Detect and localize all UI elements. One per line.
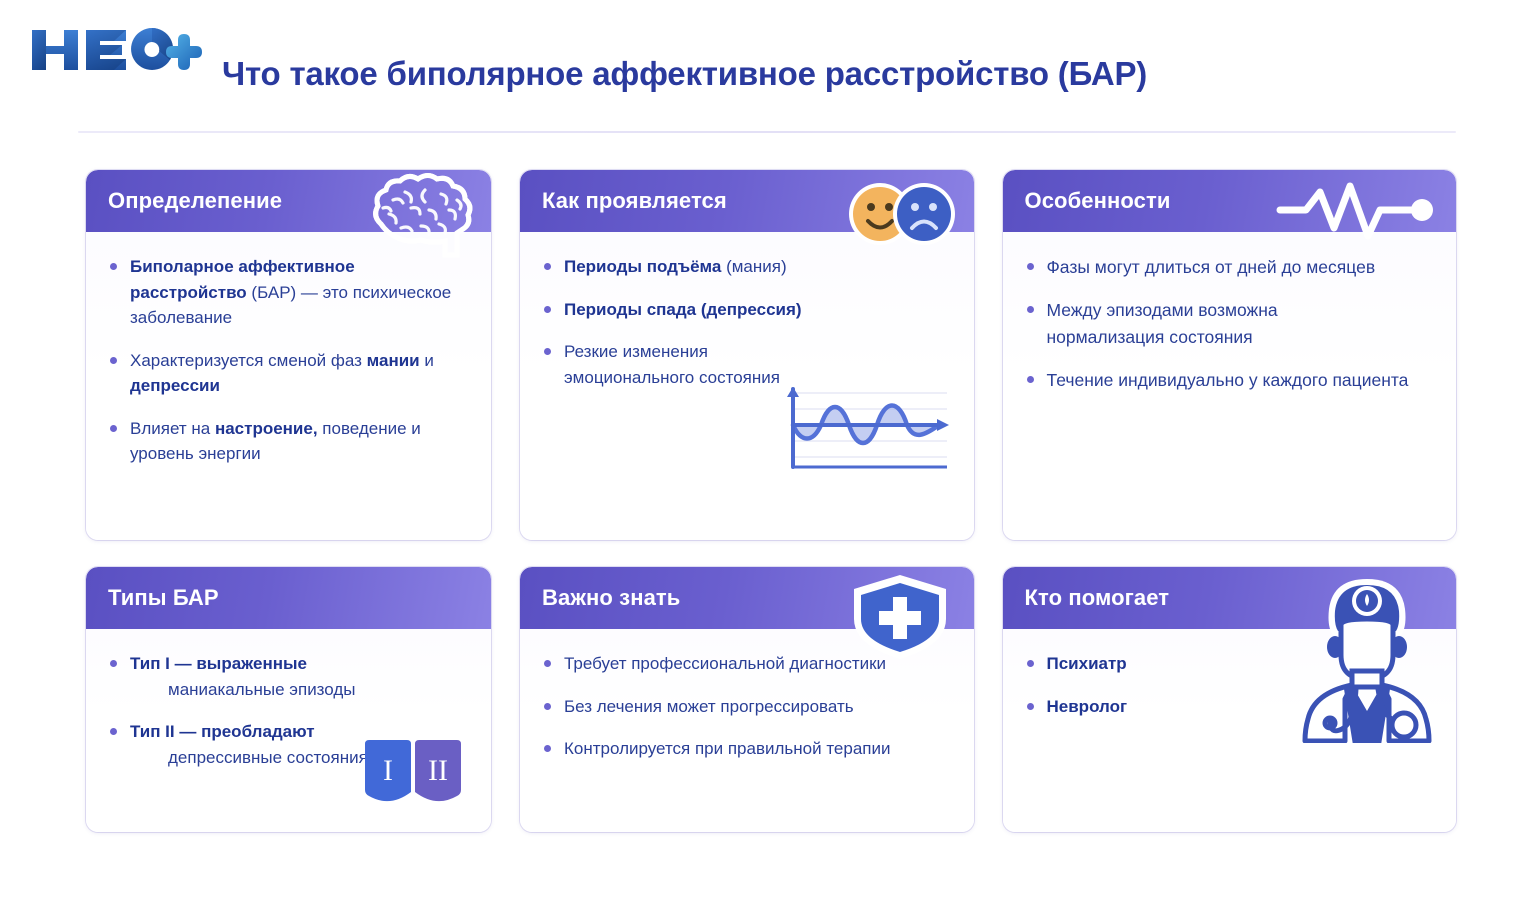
bullet-bold-text: Периоды подъёма bbox=[564, 257, 721, 276]
bullet-regular-text: Резкие изменения эмоционального состояни… bbox=[564, 342, 780, 387]
bullet-sub-text: депрессивные состояния bbox=[130, 745, 469, 771]
card-title: Важно знать bbox=[520, 585, 680, 611]
list-item: Влияет на настроение, поведение и уровен… bbox=[108, 416, 469, 467]
card-header-definition: Определепение bbox=[86, 170, 491, 232]
list-item: Без лечения может прогрессировать bbox=[542, 694, 952, 720]
card-body: Требует профессиональной диагностики Без… bbox=[520, 629, 974, 789]
list-item: Между эпизодами возможна нормализация со… bbox=[1025, 297, 1325, 350]
card-header-types: Типы БАР bbox=[86, 567, 491, 629]
card-header-manifestation: Как проявляется bbox=[520, 170, 974, 232]
card-body: Периоды подъёма (мания) Периоды спада (д… bbox=[520, 232, 974, 417]
list-item: Психиатр bbox=[1025, 651, 1435, 677]
list-item: Тип II — преобладают депрессивные состоя… bbox=[108, 719, 469, 770]
bullet-list: Психиатр Невролог bbox=[1025, 651, 1435, 719]
card-manifestation: Как проявляется Периоды подъёма (мания) … bbox=[520, 170, 974, 540]
neo-plus-logo bbox=[26, 20, 206, 80]
page-title: Что такое биполярное аффективное расстро… bbox=[222, 55, 1147, 93]
card-header-features: Особенности bbox=[1003, 170, 1457, 232]
header-divider bbox=[78, 131, 1456, 133]
card-header-important: Важно знать bbox=[520, 567, 974, 629]
card-important: Важно знать Требует профессиональной диа… bbox=[520, 567, 974, 832]
card-body: Тип I — выраженные маниакальные эпизоды … bbox=[86, 629, 491, 797]
card-who-helps: Кто помогает Психиатр Невролог bbox=[1003, 567, 1457, 832]
bullet-regular-text: Без лечения может прогрессировать bbox=[564, 697, 854, 716]
list-item: Биполарное аффективное расстройство (БАР… bbox=[108, 254, 469, 331]
bullet-bold-text: Тип II — преобладают bbox=[130, 722, 315, 741]
bullet-sub-text: маниакальные эпизоды bbox=[130, 677, 469, 703]
card-title: Типы БАР bbox=[86, 585, 219, 611]
page-header: Что такое биполярное аффективное расстро… bbox=[0, 0, 1536, 132]
list-item: Невролог bbox=[1025, 694, 1435, 720]
bullet-bold-text: настроение, bbox=[215, 419, 318, 438]
list-item: Резкие изменения эмоционального состояни… bbox=[542, 339, 792, 390]
list-item: Тип I — выраженные маниакальные эпизоды bbox=[108, 651, 469, 702]
card-body: Фазы могут длиться от дней до месяцев Ме… bbox=[1003, 232, 1457, 420]
infographic-page: Что такое биполярное аффективное расстро… bbox=[0, 0, 1536, 922]
bullet-regular-text: Характеризуется сменой фаз bbox=[130, 351, 367, 370]
card-title: Особенности bbox=[1003, 188, 1171, 214]
bullet-regular-text: Влияет на bbox=[130, 419, 215, 438]
bullet-list: Требует профессиональной диагностики Без… bbox=[542, 651, 952, 762]
card-body: Психиатр Невролог bbox=[1003, 629, 1457, 746]
bullet-regular-text: Требует профессиональной диагностики bbox=[564, 654, 886, 673]
bullet-bold-text: Периоды спада (депрессия) bbox=[564, 300, 802, 319]
bullet-bold-text: Тип I — выраженные bbox=[130, 654, 307, 673]
list-item: Контролируется при правильной терапии bbox=[542, 736, 952, 762]
list-item: Фазы могут длиться от дней до месяцев bbox=[1025, 254, 1435, 280]
list-item: Периоды спада (депрессия) bbox=[542, 297, 952, 323]
bullet-bold-text: Психиатр bbox=[1047, 654, 1127, 673]
bullet-bold-text: депрессии bbox=[130, 376, 220, 395]
card-features: Особенности Фазы могут длиться от дней д… bbox=[1003, 170, 1457, 540]
list-item: Требует профессиональной диагностики bbox=[542, 651, 952, 677]
bullet-regular-text: Течение индивидуально у каждого пациента bbox=[1047, 370, 1409, 390]
card-header-who-helps: Кто помогает bbox=[1003, 567, 1457, 629]
bullet-list: Фазы могут длиться от дней до месяцев Ме… bbox=[1025, 254, 1435, 393]
bullet-regular-text: (мания) bbox=[721, 257, 786, 276]
bullet-list: Биполарное аффективное расстройство (БАР… bbox=[108, 254, 469, 467]
bullet-regular-text: и bbox=[420, 351, 434, 370]
card-types: Типы БАР Тип I — выраженные маниакальные… bbox=[86, 567, 491, 832]
card-grid: Определепение Биполарное аффективное рас… bbox=[86, 170, 1456, 832]
bullet-regular-text: Фазы могут длиться от дней до месяцев bbox=[1047, 257, 1376, 277]
list-item: Характеризуется сменой фаз мании и депре… bbox=[108, 348, 469, 399]
list-item: Периоды подъёма (мания) bbox=[542, 254, 952, 280]
bullet-regular-text: Между эпизодами возможна нормализация со… bbox=[1047, 300, 1278, 346]
card-title: Как проявляется bbox=[520, 188, 727, 214]
bullet-list: Тип I — выраженные маниакальные эпизоды … bbox=[108, 651, 469, 770]
bullet-list: Периоды подъёма (мания) Периоды спада (д… bbox=[542, 254, 952, 390]
list-item: Течение индивидуально у каждого пациента bbox=[1025, 367, 1435, 393]
card-title: Определепение bbox=[86, 188, 282, 214]
card-definition: Определепение Биполарное аффективное рас… bbox=[86, 170, 491, 540]
card-title: Кто помогает bbox=[1003, 585, 1170, 611]
bullet-regular-text: Контролируется при правильной терапии bbox=[564, 739, 891, 758]
card-body: Биполарное аффективное расстройство (БАР… bbox=[86, 232, 491, 494]
bullet-bold-text: мании bbox=[367, 351, 420, 370]
bullet-bold-text: Невролог bbox=[1047, 697, 1128, 716]
